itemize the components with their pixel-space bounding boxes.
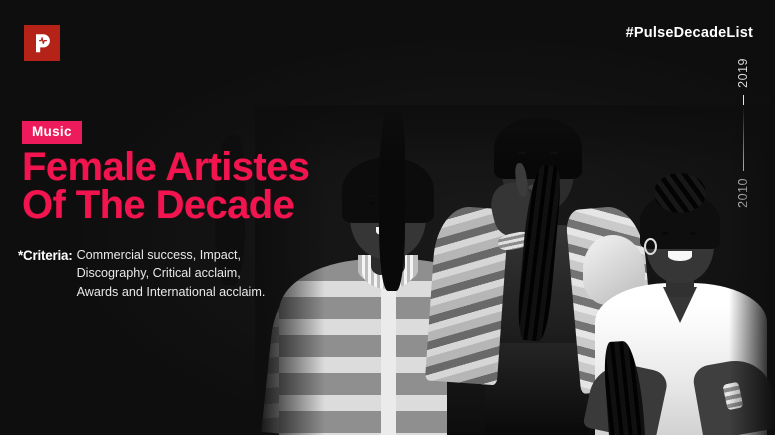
- criteria-label: *Criteria:: [18, 246, 77, 265]
- hoop-earring: [644, 238, 657, 255]
- artiste-portrait-right: [585, 165, 775, 435]
- eyebrow-left: [660, 225, 669, 227]
- eye-left: [368, 202, 375, 205]
- eyebrow-left: [366, 195, 375, 197]
- patterned-jacket-left: [425, 205, 509, 386]
- smile: [668, 251, 692, 261]
- eyebrow-right: [690, 225, 699, 227]
- eye-right: [549, 160, 556, 163]
- category-badge: Music: [22, 121, 82, 144]
- hair-strand-left: [379, 105, 405, 291]
- eyebrow-left: [517, 152, 526, 154]
- artiste-portrait-group: [255, 105, 775, 435]
- campaign-hashtag: #PulseDecadeList: [626, 25, 753, 41]
- poster-canvas: #PulseDecadeList 2019 2010: [0, 0, 775, 435]
- criteria-block: *Criteria: Commercial success, Impact, D…: [18, 246, 265, 301]
- eye-right: [690, 232, 697, 235]
- pulse-logo-icon[interactable]: [24, 25, 60, 61]
- top-bun: [654, 173, 706, 213]
- page-title: Female Artistes Of The Decade: [22, 148, 309, 225]
- eye-left: [662, 232, 669, 235]
- eyebrow-right: [549, 152, 558, 154]
- criteria-text: Commercial success, Impact, Discography,…: [77, 246, 266, 301]
- timeline-end-year: 2019: [737, 58, 750, 88]
- leather-skirt: [485, 343, 589, 435]
